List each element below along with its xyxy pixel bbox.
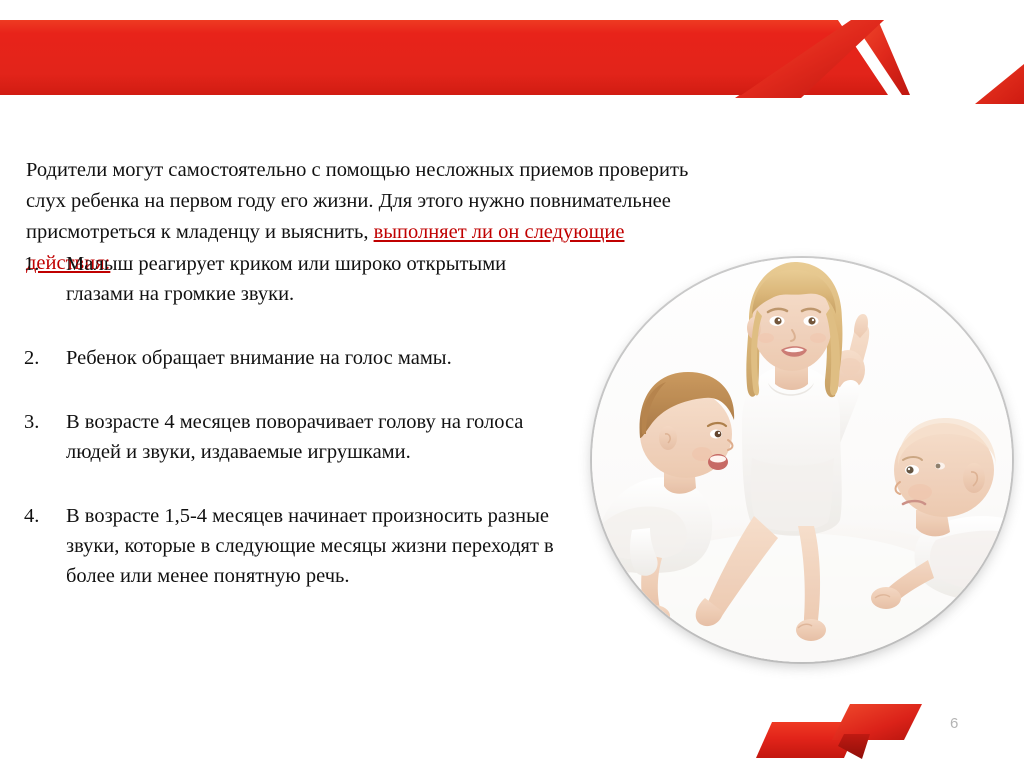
children-photo (592, 258, 1012, 662)
numbered-list: 1. Малыш реагирует криком или широко отк… (24, 249, 554, 625)
list-item-number: 1. (24, 249, 66, 279)
list-item-number: 4. (24, 501, 66, 531)
slide: Родители могут самостоятельно с помощью … (0, 0, 1024, 767)
top-banner-decoration (0, 0, 1024, 130)
list-item-number: 2. (24, 343, 66, 373)
page-number: 6 (950, 715, 958, 732)
list-item-text: В возрасте 4 месяцев поворачивает голову… (66, 407, 554, 467)
list-item: 1. Малыш реагирует криком или широко отк… (24, 249, 554, 309)
list-item-text: Ребенок обращает внимание на голос мамы. (66, 343, 554, 373)
list-item: 3. В возрасте 4 месяцев поворачивает гол… (24, 407, 554, 467)
list-item: 4. В возрасте 1,5-4 месяцев начинает про… (24, 501, 554, 591)
list-item-text: Малыш реагирует криком или широко открыт… (66, 249, 554, 309)
bottom-ribbon-decoration (740, 690, 970, 767)
list-item-text: В возрасте 1,5-4 месяцев начинает произн… (66, 501, 554, 591)
list-item-number: 3. (24, 407, 66, 437)
list-item: 2. Ребенок обращает внимание на голос ма… (24, 343, 554, 373)
